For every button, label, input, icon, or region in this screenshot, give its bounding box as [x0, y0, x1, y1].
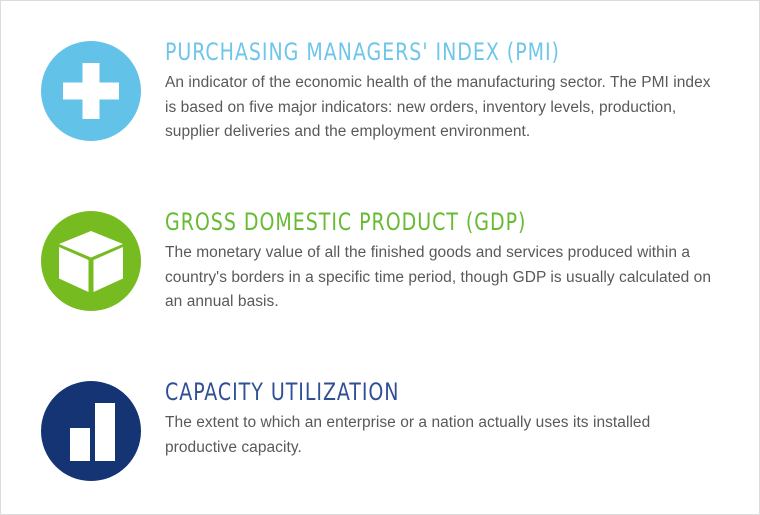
- indicator-entry-gdp: Gross Domestic Product (GDP) The monetar…: [1, 209, 760, 315]
- indicator-text-pmi: Purchasing Managers' Index (PMI) An indi…: [165, 39, 713, 145]
- indicator-entry-capacity: Capacity Utilization The extent to which…: [1, 379, 760, 481]
- cube-box-icon-badge: [41, 211, 141, 311]
- indicator-heading: Purchasing Managers' Index (PMI): [165, 39, 647, 65]
- plus-cross-icon: [41, 41, 141, 141]
- indicator-heading: Gross Domestic Product (GDP): [165, 209, 647, 235]
- economic-indicators-card: Purchasing Managers' Index (PMI) An indi…: [0, 0, 760, 515]
- indicator-description: An indicator of the economic health of t…: [165, 71, 713, 145]
- indicator-text-gdp: Gross Domestic Product (GDP) The monetar…: [165, 209, 713, 315]
- indicator-entry-pmi: Purchasing Managers' Index (PMI) An indi…: [1, 39, 760, 145]
- indicator-description: The monetary value of all the finished g…: [165, 241, 713, 315]
- cube-box-icon: [41, 211, 141, 311]
- bar-chart-icon-badge: [41, 381, 141, 481]
- indicator-heading: Capacity Utilization: [165, 379, 647, 405]
- indicator-description: The extent to which an enterprise or a n…: [165, 411, 713, 460]
- bar-chart-icon: [41, 381, 141, 481]
- indicator-text-capacity: Capacity Utilization The extent to which…: [165, 379, 713, 460]
- plus-cross-icon-badge: [41, 41, 141, 141]
